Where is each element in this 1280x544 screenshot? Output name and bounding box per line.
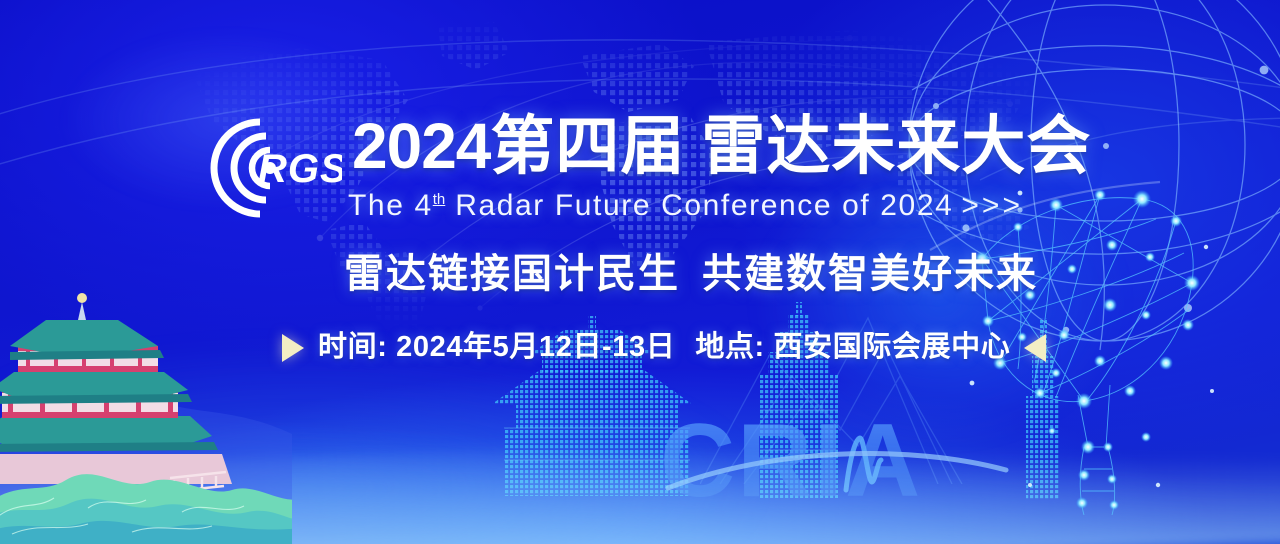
place-label: 地点:: [695, 331, 764, 363]
banner-content: RGS 2024第四届雷达未来大会 The 4th Radar Future C…: [0, 0, 1280, 544]
place-value: 西安国际会展中心: [774, 331, 1011, 363]
page-title: 2024第四届雷达未来大会: [352, 114, 1091, 178]
logo-wordmark: RGS: [258, 147, 342, 191]
triangle-left-marker-icon: [1024, 334, 1046, 362]
radar-swirl-logo-icon: RGS: [196, 116, 342, 220]
slogan: 雷达链接国计民生共建数智美好未来: [344, 254, 1038, 294]
time-value: 2024年5月12日-13日: [396, 331, 675, 363]
subtitle-rest: Radar Future Conference of 2024: [455, 189, 953, 222]
title-name: 雷达未来大会: [701, 110, 1091, 182]
title-year: 2024: [352, 110, 490, 182]
slogan-part-1: 雷达链接国计民生: [344, 252, 680, 296]
slogan-part-2: 共建数智美好未来: [702, 252, 1038, 296]
subtitle-ordinal-suffix: th: [433, 191, 446, 208]
event-info-text: 时间: 2024年5月12日-13日地点: 西安国际会展中心: [318, 333, 1010, 362]
event-info-line: 时间: 2024年5月12日-13日地点: 西安国际会展中心: [282, 333, 1046, 362]
title-edition: 第四届: [490, 110, 685, 182]
time-label: 时间:: [318, 331, 387, 363]
chevron-right-icon: >>>: [961, 189, 1023, 222]
conference-banner: CRIA: [0, 0, 1280, 544]
triangle-right-marker-icon: [282, 334, 304, 362]
subtitle-ordinal: 4: [414, 189, 432, 222]
subtitle-prefix: The: [348, 189, 405, 222]
subtitle-english: The 4th Radar Future Conference of 2024>…: [348, 191, 1023, 221]
